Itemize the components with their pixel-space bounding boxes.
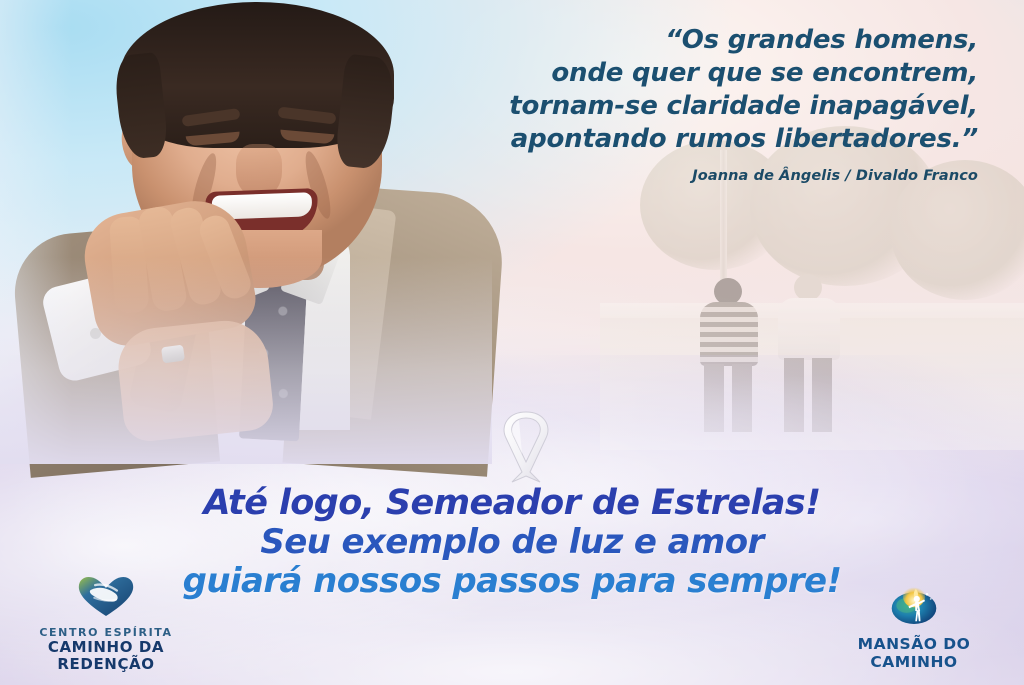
- quote-line-2: onde quer que se encontrem,: [418, 57, 978, 90]
- quote-line-3: tornam-se claridade inapagável,: [418, 90, 978, 123]
- quote-block: “Os grandes homens, onde quer que se enc…: [418, 24, 978, 184]
- logo-left-line-2: CAMINHO DA REDENÇÃO: [6, 639, 206, 673]
- logo-right-line-1: MANSÃO DO CAMINHO: [814, 635, 1014, 671]
- hand-holding-microphone: [115, 316, 276, 443]
- logo-mansao-do-caminho: MANSÃO DO CAMINHO: [814, 583, 1014, 671]
- globe-figure-light-icon: [814, 583, 1014, 631]
- white-mourning-ribbon: [492, 404, 560, 488]
- quote-line-4: apontando rumos libertadores.”: [418, 123, 978, 156]
- quote-attribution: Joanna de Ângelis / Divaldo Franco: [418, 168, 978, 184]
- headline-line-1: Até logo, Semeador de Estrelas!: [0, 484, 1024, 523]
- tribute-poster: “Os grandes homens, onde quer que se enc…: [0, 0, 1024, 685]
- hands-heart-icon: [6, 575, 206, 622]
- logo-centro-espirita: CENTRO ESPÍRITA CAMINHO DA REDENÇÃO: [6, 575, 206, 673]
- quote-line-1: “Os grandes homens,: [418, 24, 978, 57]
- headline-line-2: Seu exemplo de luz e amor: [0, 523, 1024, 562]
